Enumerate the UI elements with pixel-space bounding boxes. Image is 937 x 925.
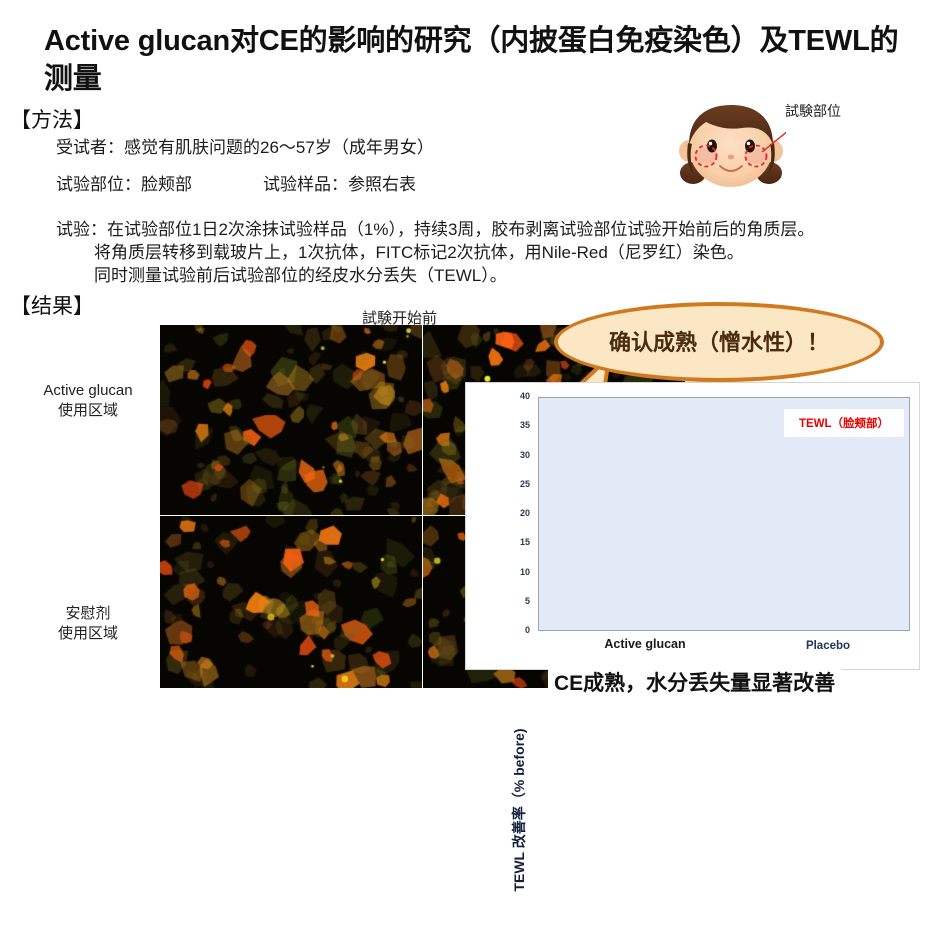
method-trial-line-3: 同时测量试验前后试验部位的经皮水分丢失（TEWL）。	[94, 261, 507, 286]
chart-y-axis-label-holder: TEWL 改善率（% before)	[478, 400, 500, 640]
chart-y-tick-label: 15	[500, 537, 530, 547]
method-sample-line: 试验样品：参照右表	[263, 170, 416, 195]
chart-y-tick-label: 35	[500, 420, 530, 430]
chart-y-tick-label: 40	[500, 391, 530, 401]
row1-label-line2: 使用区域	[18, 401, 158, 421]
face-illustration-icon	[676, 100, 786, 192]
micrograph-panel-active-before	[160, 325, 422, 515]
slide-root: Active glucan对CE的影响的研究（内披蛋白免疫染色）及TEWL的测量…	[0, 0, 937, 715]
chart-y-tick-label: 20	[500, 508, 530, 518]
bottom-caption: CE成熟，水分丢失量显著改善	[548, 665, 841, 699]
chart-y-axis-label: TEWL 改善率（% before)	[509, 695, 529, 925]
face-test-site-label: 試験部位	[785, 101, 841, 121]
method-section-label: 【方法】	[10, 104, 94, 134]
chart-y-tick-label: 10	[500, 567, 530, 577]
chart-legend-label: TEWL（脸颊部）	[799, 415, 889, 431]
speech-bubble-text: 确认成熟（憎水性）！	[554, 325, 884, 357]
method-trial-line-1: 试验：在试验部位1日2次涂抹试验样品（1%），持续3周，胶布剥离试验部位试验开始…	[56, 215, 814, 240]
chart-y-tick-label: 5	[500, 596, 530, 606]
chart-legend: TEWL（脸颊部）	[783, 408, 905, 438]
method-trial-line-2: 将角质层转移到载玻片上，1次抗体，FITC标记2次抗体，用Nile-Red（尼罗…	[94, 238, 744, 263]
micrograph-panel-placebo-before	[160, 516, 422, 688]
chart-y-tick-label: 25	[500, 479, 530, 489]
chart-x-category-0: Active glucan	[565, 637, 725, 651]
result-section-label: 【结果】	[10, 290, 94, 320]
row2-label-line1: 安慰剂	[18, 604, 158, 624]
page-title: Active glucan对CE的影响的研究（内披蛋白免疫染色）及TEWL的测量	[44, 22, 904, 99]
row1-label-line1: Active glucan	[18, 381, 158, 401]
chart-x-category-1: Placebo	[768, 640, 888, 652]
chart-y-tick-label: 0	[500, 625, 530, 635]
row2-label-line2: 使用区域	[18, 624, 158, 644]
method-subject-line: 受试者：感觉有肌肤问题的26～57岁（成年男女）	[56, 133, 434, 158]
chart-y-tick-label: 30	[500, 450, 530, 460]
method-site-line: 试验部位：脸颊部	[56, 170, 192, 195]
row-label-active-glucan: Active glucan 使用区域	[18, 381, 158, 422]
row-label-placebo: 安慰剂 使用区域	[18, 604, 158, 645]
